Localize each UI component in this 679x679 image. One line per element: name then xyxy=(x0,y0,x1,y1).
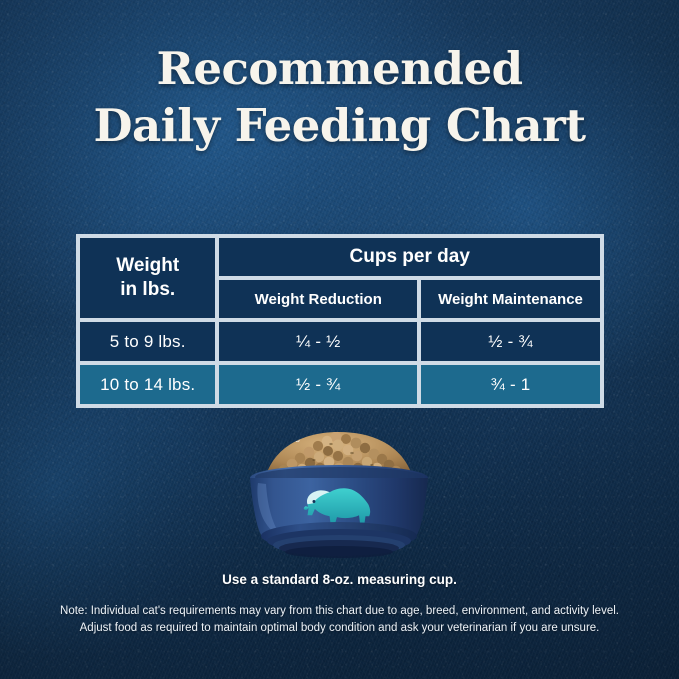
row-0-weight-reduction: ¼ - ½ xyxy=(217,320,419,363)
page-title: Recommended Daily Feeding Chart xyxy=(0,46,679,148)
feeding-chart-page: Recommended Daily Feeding Chart Weight i… xyxy=(0,0,679,679)
header-weight-in-lbs: Weight in lbs. xyxy=(78,236,217,320)
header-weight-line1: Weight xyxy=(116,255,179,276)
header-weight-maintenance: Weight Maintenance xyxy=(419,278,602,320)
table-row: 10 to 14 lbs. ½ - ¾ ¾ - 1 xyxy=(78,363,602,406)
measuring-cup-note: Use a standard 8-oz. measuring cup. xyxy=(0,572,679,587)
buffalo-eye xyxy=(312,500,315,503)
row-1-weight-maintenance: ¾ - 1 xyxy=(419,363,602,406)
pet-food-bowl-illustration: 3 xyxy=(232,428,447,568)
table-header-row-1: Weight in lbs. Cups per day xyxy=(78,236,602,278)
footer: Use a standard 8-oz. measuring cup. Note… xyxy=(0,572,679,638)
bowl-shadow xyxy=(285,546,393,558)
kibble-count-mark: 3 xyxy=(295,434,300,444)
disclaimer-line-1: Note: Individual cat's requirements may … xyxy=(0,603,679,620)
row-1-weight-reduction: ½ - ¾ xyxy=(217,363,419,406)
table-row: 5 to 9 lbs. ¼ - ½ ½ - ¾ xyxy=(78,320,602,363)
row-0-weight-maintenance: ½ - ¾ xyxy=(419,320,602,363)
header-weight-line2: in lbs. xyxy=(120,279,175,300)
disclaimer-line-2: Adjust food as required to maintain opti… xyxy=(0,620,679,637)
header-weight-reduction: Weight Reduction xyxy=(217,278,419,320)
title-line-2: Daily Feeding Chart xyxy=(0,103,679,148)
row-1-weight: 10 to 14 lbs. xyxy=(78,363,217,406)
header-cups-per-day: Cups per day xyxy=(217,236,602,278)
row-0-weight: 5 to 9 lbs. xyxy=(78,320,217,363)
title-line-1: Recommended xyxy=(0,46,679,91)
feeding-chart-table: Weight in lbs. Cups per day Weight Reduc… xyxy=(78,236,602,406)
